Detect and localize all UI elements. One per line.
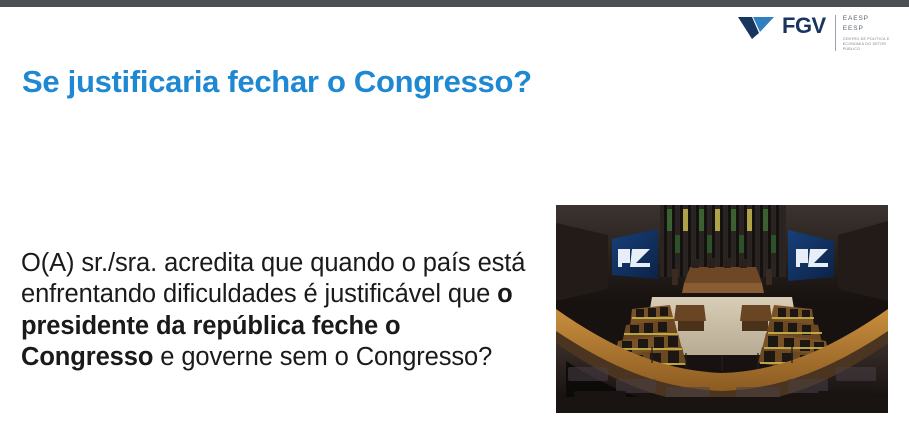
question-part-2: e governe sem o Congresso?	[153, 343, 492, 371]
fgv-wordmark: FGV	[782, 13, 826, 39]
fgv-chevron-logo-icon	[738, 16, 780, 40]
top-chrome-bar	[0, 0, 909, 7]
logo-unit-eaesp: EAESP	[843, 14, 905, 24]
logo-unit-eesp: EESP	[843, 24, 905, 34]
podium-left	[674, 305, 706, 331]
logo-unit-list: EAESP EESP CENTRO DE POLÍTICA E ECONOMIA…	[843, 13, 905, 52]
page-title: Se justificaria fechar o Congresso?	[22, 63, 532, 101]
podium-right	[740, 305, 772, 331]
logo-center-name: CENTRO DE POLÍTICA E ECONOMIA DO SETOR P…	[843, 37, 905, 52]
fgv-logo-block: FGV EAESP EESP CENTRO DE POLÍTICA E ECON…	[738, 13, 905, 55]
congress-plenary-illustration	[556, 205, 888, 413]
logo-divider	[835, 15, 836, 51]
congress-plenary-photo	[556, 205, 888, 413]
survey-question-text: O(A) sr./sra. acredita que quando o país…	[21, 248, 533, 374]
slide-canvas: FGV EAESP EESP CENTRO DE POLÍTICA E ECON…	[0, 7, 909, 428]
question-part-1: O(A) sr./sra. acredita que quando o país…	[21, 249, 525, 309]
